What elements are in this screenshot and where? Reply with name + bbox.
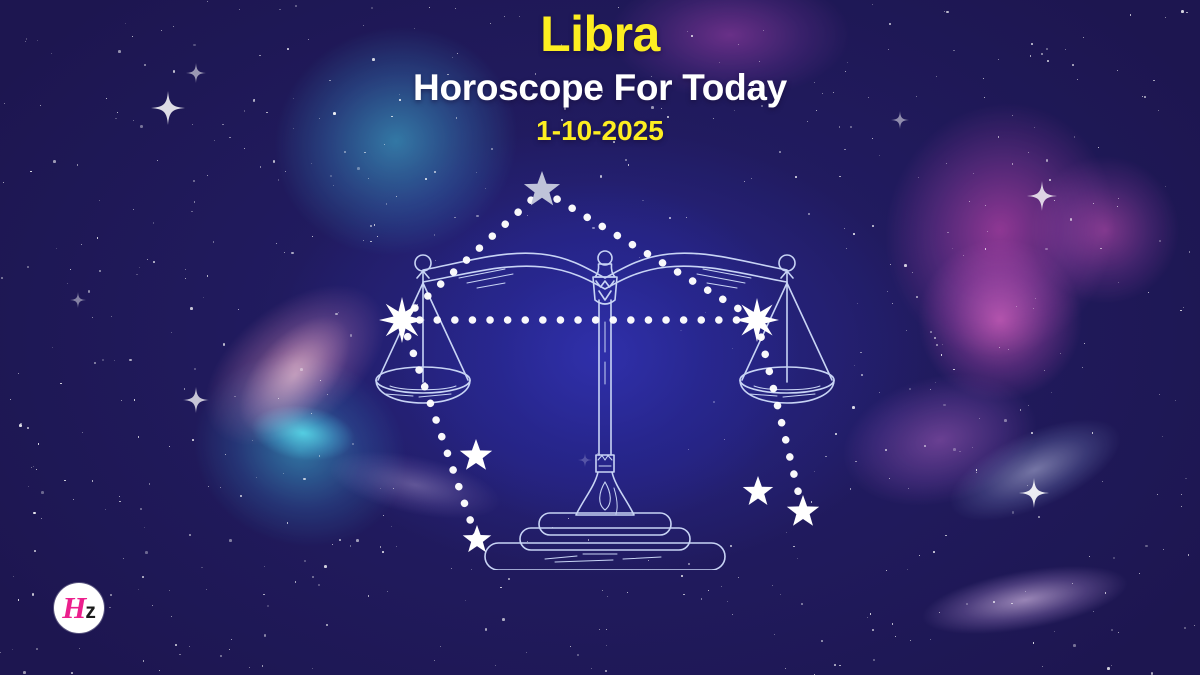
page-subtitle: Horoscope For Today — [0, 67, 1200, 110]
scales-base — [485, 513, 725, 570]
libra-scales-artwork — [355, 170, 855, 570]
scales-beam — [423, 253, 787, 289]
horoscope-date: 1-10-2025 — [0, 116, 1200, 147]
hz-logo[interactable]: H z — [54, 583, 104, 633]
libra-scales-icon — [355, 170, 855, 570]
scales-pan-left — [376, 255, 470, 403]
horoscope-banner: Libra Horoscope For Today 1-10-2025 H z — [0, 0, 1200, 675]
title-group: Libra Horoscope For Today 1-10-2025 — [0, 8, 1200, 147]
scales-column — [576, 251, 634, 515]
zodiac-sign-title: Libra — [0, 8, 1200, 61]
logo-letter-h: H — [62, 592, 86, 623]
scales-pan-right — [740, 255, 834, 403]
logo-letter-z: z — [85, 601, 96, 622]
